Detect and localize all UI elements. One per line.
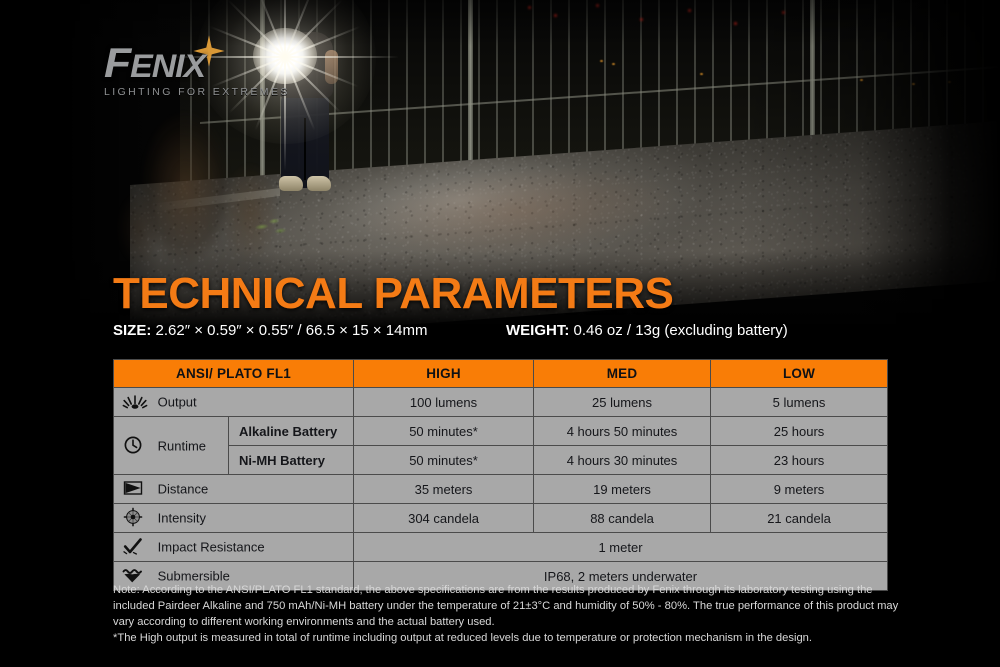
cell-nimh-high: 50 minutes* xyxy=(354,446,534,475)
size-value: 2.62″ × 0.59″ × 0.55″ / 66.5 × 15 × 14mm xyxy=(156,322,428,339)
table-row: Output 100 lumens 25 lumens 5 lumens xyxy=(114,388,888,417)
row-label-impact: Impact Resistance xyxy=(114,533,354,562)
leaf-sprig xyxy=(250,212,293,243)
page-title: TECHNICAL PARAMETERS xyxy=(113,272,673,316)
technical-parameters-table: ANSI/ PLATO FL1 HIGH MED LOW xyxy=(113,359,888,591)
cell-intensity-low: 21 candela xyxy=(711,504,888,533)
cell-alkaline-high: 50 minutes* xyxy=(354,417,534,446)
weight-value: 0.46 oz / 13g (excluding battery) xyxy=(574,322,788,339)
table-row: Intensity 304 candela 88 candela 21 cand… xyxy=(114,504,888,533)
col-header-high: HIGH xyxy=(354,360,534,388)
size-label: SIZE: xyxy=(113,322,151,339)
cell-output-low: 5 lumens xyxy=(711,388,888,417)
size-weight-line: SIZE: 2.62″ × 0.59″ × 0.55″ / 66.5 × 15 … xyxy=(113,322,913,344)
distant-amber-lights xyxy=(560,55,980,100)
beam-distance-icon xyxy=(122,478,148,498)
row-label-output: Output xyxy=(114,388,354,417)
person-shoe-left xyxy=(279,176,303,191)
cell-alkaline-med: 4 hours 50 minutes xyxy=(534,417,711,446)
table-row: Runtime Alkaline Battery 50 minutes* 4 h… xyxy=(114,417,888,446)
fenix-logo: FENIX LIGHTING FOR EXTREMES xyxy=(104,42,294,92)
row-label-text: Distance xyxy=(158,482,209,497)
footnote-block: Note: According to the ANSI/PLATO FL1 st… xyxy=(113,582,903,647)
footnote-line-2: *The High output is measured in total of… xyxy=(113,630,903,646)
light-burst-icon xyxy=(122,391,148,411)
row-label-text: Runtime xyxy=(158,438,206,453)
logo-wordmark: FENIX xyxy=(104,42,305,84)
table-row: Distance 35 meters 19 meters 9 meters xyxy=(114,475,888,504)
cell-distance-low: 9 meters xyxy=(711,475,888,504)
logo-word-lead: F xyxy=(104,39,130,86)
cell-impact-all: 1 meter xyxy=(354,533,888,562)
footnote-line-1: Note: According to the ANSI/PLATO FL1 st… xyxy=(113,582,903,630)
cell-alkaline-low: 25 hours xyxy=(711,417,888,446)
col-header-low: LOW xyxy=(711,360,888,388)
col-header-standard: ANSI/ PLATO FL1 xyxy=(114,360,354,388)
row-label-runtime: Runtime xyxy=(114,417,229,475)
logo-word-rest: ENIX xyxy=(130,48,205,84)
weight-group: WEIGHT: 0.46 oz / 13g (excluding battery… xyxy=(506,322,788,339)
subrow-label-nimh: Ni-MH Battery xyxy=(229,446,354,475)
target-intensity-icon xyxy=(122,507,148,527)
row-label-distance: Distance xyxy=(114,475,354,504)
cell-output-high: 100 lumens xyxy=(354,388,534,417)
table-header-row: ANSI/ PLATO FL1 HIGH MED LOW xyxy=(114,360,888,388)
row-label-text: Output xyxy=(158,395,197,410)
cell-nimh-med: 4 hours 30 minutes xyxy=(534,446,711,475)
weight-label: WEIGHT: xyxy=(506,322,569,339)
row-label-intensity: Intensity xyxy=(114,504,354,533)
cell-output-med: 25 lumens xyxy=(534,388,711,417)
col-header-med: MED xyxy=(534,360,711,388)
distant-red-lights xyxy=(520,0,820,40)
table-row: Impact Resistance 1 meter xyxy=(114,533,888,562)
impact-check-icon xyxy=(122,536,148,556)
clock-icon xyxy=(122,435,148,455)
logo-tagline: LIGHTING FOR EXTREMES xyxy=(104,86,294,98)
subrow-label-alkaline: Alkaline Battery xyxy=(229,417,354,446)
cell-distance-high: 35 meters xyxy=(354,475,534,504)
row-label-text: Impact Resistance xyxy=(158,540,265,555)
product-spec-page: FENIX LIGHTING FOR EXTREMES TECHNICAL PA… xyxy=(0,0,1000,667)
cell-nimh-low: 23 hours xyxy=(711,446,888,475)
cell-distance-med: 19 meters xyxy=(534,475,711,504)
row-label-text: Intensity xyxy=(158,511,206,526)
person-shoe-right xyxy=(307,176,331,191)
cell-intensity-high: 304 candela xyxy=(354,504,534,533)
size-group: SIZE: 2.62″ × 0.59″ × 0.55″ / 66.5 × 15 … xyxy=(113,322,427,339)
cell-intensity-med: 88 candela xyxy=(534,504,711,533)
table-row: Ni-MH Battery 50 minutes* 4 hours 30 min… xyxy=(114,446,888,475)
